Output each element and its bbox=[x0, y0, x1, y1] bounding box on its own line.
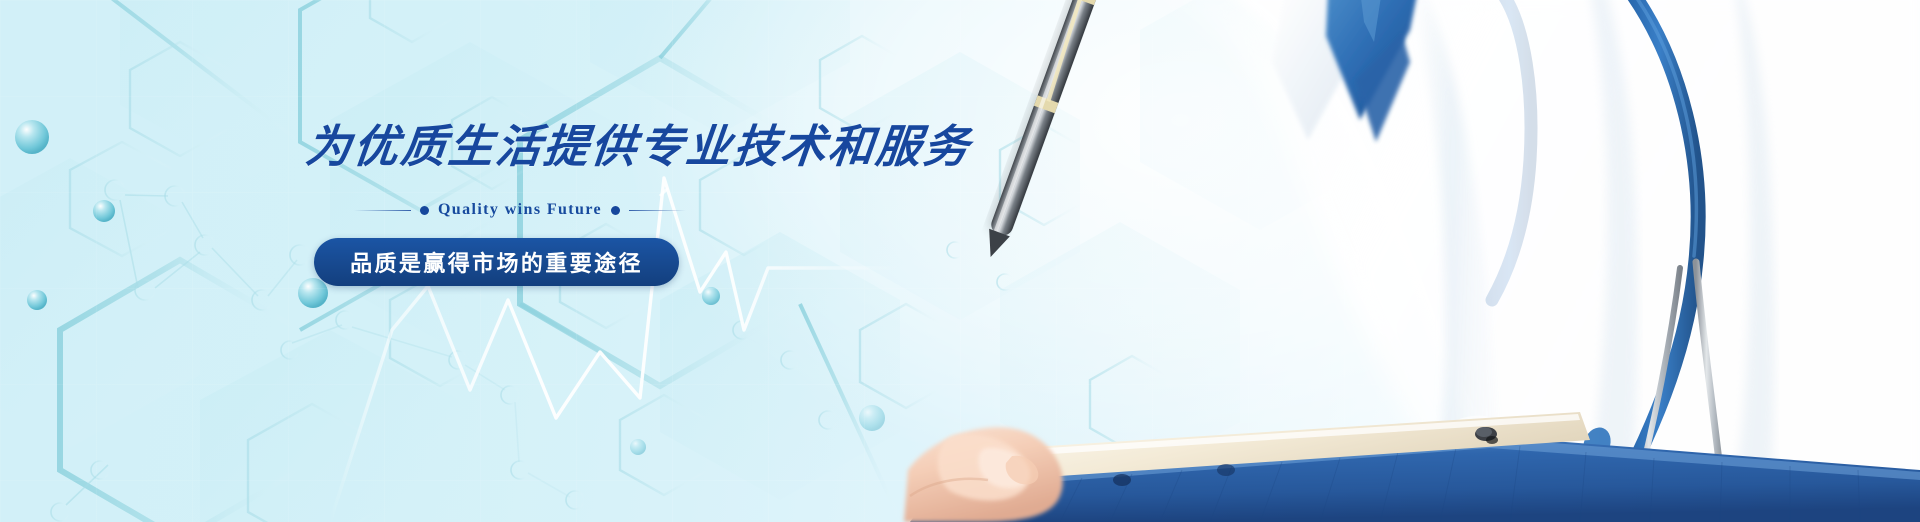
page-title: 为优质生活提供专业技术和服务 bbox=[304, 124, 1029, 169]
slogan-pill-button[interactable]: 品质是赢得市场的重要途径 bbox=[314, 238, 679, 286]
divider-line-left bbox=[354, 210, 411, 211]
banner-text-block: 为优质生活提供专业技术和服务 Quality wins Future 品质是赢得… bbox=[306, 124, 1026, 286]
bullet-dot-icon bbox=[611, 206, 620, 215]
divider-line-right bbox=[629, 210, 686, 211]
clip-hole-icon bbox=[1113, 474, 1131, 486]
subtitle-english: Quality wins Future bbox=[438, 201, 602, 219]
subtitle-row: Quality wins Future bbox=[354, 201, 686, 219]
doctor-photo bbox=[890, 0, 1920, 522]
hero-banner: 为优质生活提供专业技术和服务 Quality wins Future 品质是赢得… bbox=[0, 0, 1920, 522]
hand-holding-pen bbox=[904, 427, 1063, 522]
slogan-pill-label: 品质是赢得市场的重要途径 bbox=[350, 246, 643, 278]
bullet-dot-icon bbox=[420, 206, 429, 215]
